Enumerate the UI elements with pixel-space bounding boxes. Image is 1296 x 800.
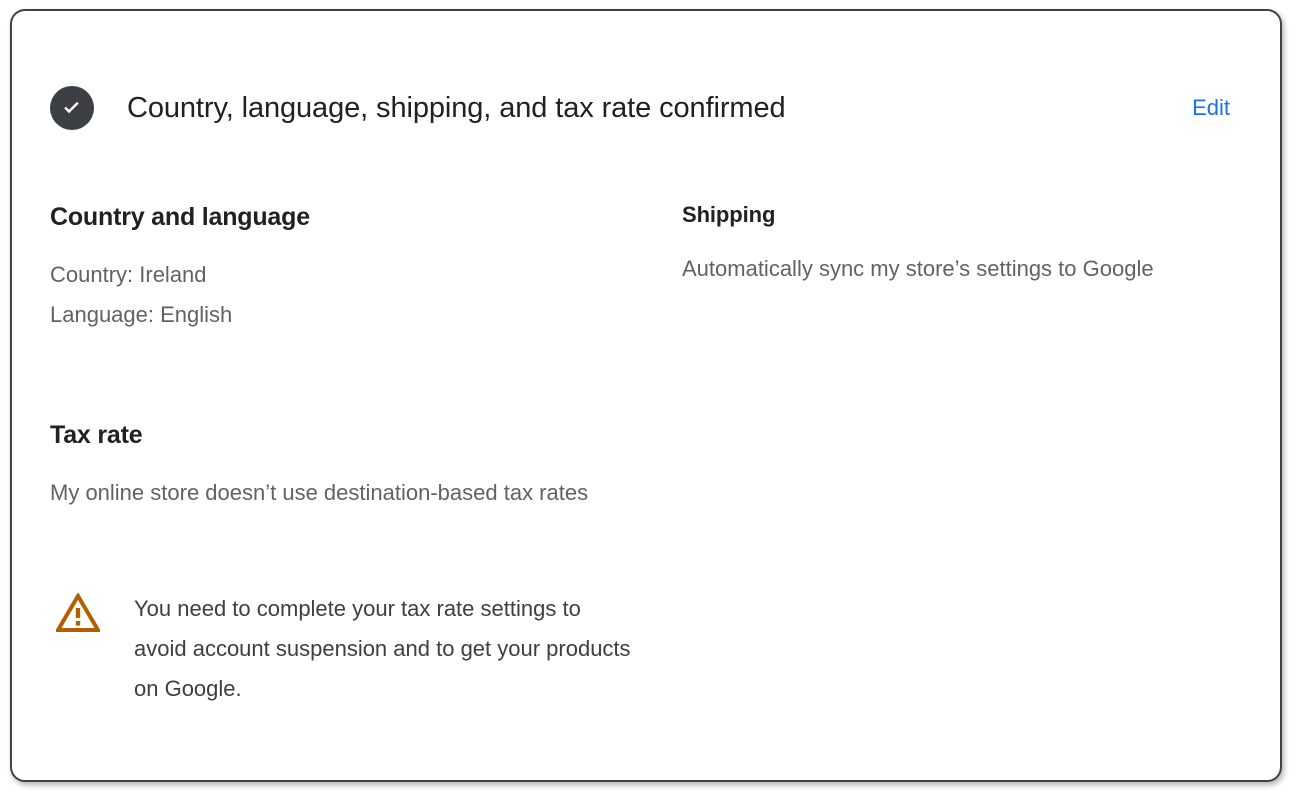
country-language-values: Country: Ireland Language: English xyxy=(50,255,650,335)
shipping-heading: Shipping xyxy=(682,201,1252,229)
check-circle-icon xyxy=(50,86,94,130)
tax-rate-heading: Tax rate xyxy=(50,419,650,451)
country-language-heading: Country and language xyxy=(50,201,650,233)
edit-link[interactable]: Edit xyxy=(1192,94,1240,122)
language-value: Language: English xyxy=(50,295,650,335)
country-value: Country: Ireland xyxy=(50,255,650,295)
country-language-section: Country and language Country: Ireland La… xyxy=(50,201,650,335)
tax-rate-warning-text: You need to complete your tax rate setti… xyxy=(134,589,634,709)
shipping-section: Shipping Automatically sync my store’s s… xyxy=(682,201,1252,289)
tax-rate-description: My online store doesn’t use destination-… xyxy=(50,473,595,513)
tax-rate-warning: You need to complete your tax rate setti… xyxy=(56,589,676,709)
confirmation-card: Country, language, shipping, and tax rat… xyxy=(10,9,1282,782)
tax-rate-section: Tax rate My online store doesn’t use des… xyxy=(50,419,650,513)
screen: Country, language, shipping, and tax rat… xyxy=(0,0,1296,800)
card-header: Country, language, shipping, and tax rat… xyxy=(50,84,1240,132)
shipping-description: Automatically sync my store’s settings t… xyxy=(682,249,1212,289)
warning-triangle-icon xyxy=(56,589,104,633)
page-title: Country, language, shipping, and tax rat… xyxy=(127,90,786,126)
